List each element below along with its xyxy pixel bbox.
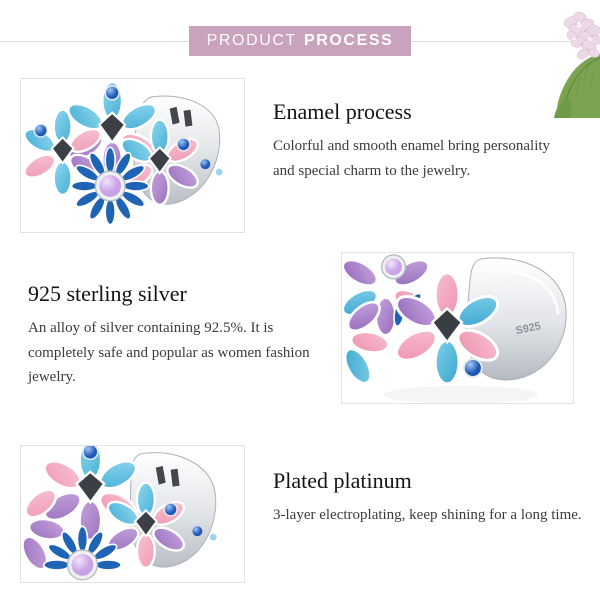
section-body-sterling-silver: An alloy of silver containing 92.5%. It …	[28, 316, 328, 389]
header-rule-right	[411, 41, 600, 42]
section-text-enamel-process: Enamel process Colorful and smooth ename…	[273, 99, 573, 183]
section-body-enamel-process: Colorful and smooth enamel bring persona…	[273, 134, 573, 183]
charm-hallmark-illustration: S925	[342, 253, 573, 404]
section-text-sterling-silver: 925 sterling silver An alloy of silver c…	[28, 281, 328, 389]
section-body-plated-platinum: 3-layer electroplating, keep shining for…	[273, 503, 583, 527]
charm-bead-illustration	[21, 79, 244, 233]
product-photo-hallmark: S925	[341, 252, 574, 404]
charm-plating-illustration	[21, 446, 244, 583]
header-rule-left	[0, 41, 189, 42]
header-title-bold: PROCESS	[304, 32, 393, 50]
product-photo-plating	[20, 445, 245, 583]
section-title-enamel-process: Enamel process	[273, 99, 573, 125]
section-title-sterling-silver: 925 sterling silver	[28, 281, 328, 307]
header-title-light: PRODUCT	[207, 32, 297, 50]
product-process-infographic: PRODUCT PROCESS	[0, 0, 600, 600]
section-title-plated-platinum: Plated platinum	[273, 468, 583, 494]
section-text-plated-platinum: Plated platinum 3-layer electroplating, …	[273, 468, 583, 528]
product-photo-enamel	[20, 78, 245, 233]
header-banner: PRODUCT PROCESS	[189, 26, 412, 56]
section-header: PRODUCT PROCESS	[0, 26, 600, 56]
